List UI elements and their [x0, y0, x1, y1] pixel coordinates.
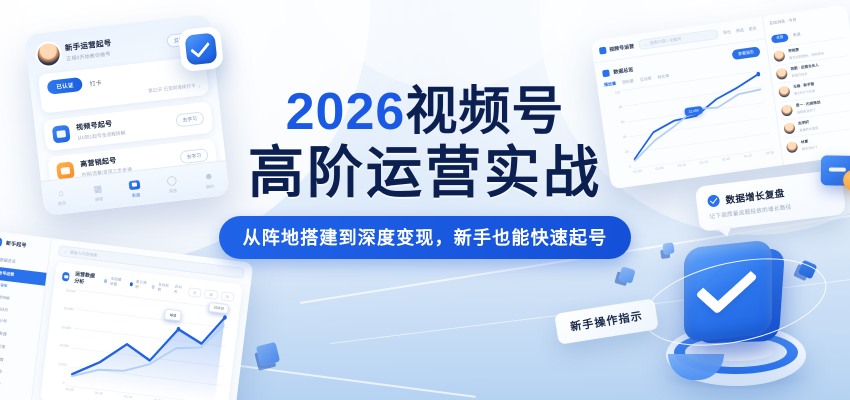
range-day-button[interactable]: 日 — [188, 287, 202, 298]
banner-canvas: 新手运营起号 正用0开始教你做号 立即查看 已认证 打卡 第32天 已签到连续打… — [0, 0, 850, 400]
panel-icon — [602, 69, 610, 77]
sidebar-item-label: 账号运营 — [0, 270, 14, 278]
toolbar-filter[interactable]: 筛选 — [736, 27, 745, 34]
dashboard-left-panel-title: 运营数据分析 — [74, 270, 100, 287]
dashboard-right-brand: 视频号运营 — [609, 42, 635, 52]
range-month-button[interactable]: 月 — [220, 291, 234, 302]
legend-label: 累计涨粉 — [135, 280, 148, 291]
sidebar-item-label: 选题日历 — [0, 306, 8, 313]
tab-followers[interactable]: 涨粉量 — [622, 78, 635, 86]
app-check-icon — [178, 26, 224, 72]
area-chart-left: 25,000 20,000 15,000 10,000 5,000 0 — [48, 288, 233, 400]
avatar — [776, 68, 788, 80]
sidebar-item-label: 爆款拆解 — [0, 295, 10, 302]
tab-engagement[interactable]: 互动率 — [639, 76, 652, 84]
legend-item-2: 互动总数 — [151, 282, 170, 294]
headline-line-1: 2026视频号 — [0, 86, 850, 140]
filter-label: 近30天 — [174, 285, 184, 296]
legend-item-0: 本周播放量 — [103, 276, 125, 288]
contacts-filter-all[interactable]: 全部 — [771, 33, 789, 43]
sidebar-item-label: 系统设置 — [0, 380, 1, 388]
sidebar-item-label: 团队协作 — [0, 368, 2, 376]
sidebar-item-label: 发布计划 — [0, 318, 7, 325]
hero-3d-check — [636, 236, 832, 400]
sidebar-item-label: 内容库 — [0, 283, 8, 289]
headline-line-2: 高阶运营实战 — [0, 144, 850, 203]
brand-mark-icon — [599, 46, 607, 54]
legend-label: 互动总数 — [157, 283, 170, 294]
toolbar-more[interactable]: 更多 — [748, 26, 757, 33]
subtitle-pill: 从阵地搭建到深度变现，新手也能快速起号 — [219, 216, 632, 259]
tab-conversion[interactable]: 转化率 — [657, 73, 670, 81]
search-placeholder: 搜索内容 / 关键词 — [650, 36, 682, 46]
sidebar-item-label: 商业变现 — [0, 342, 6, 350]
legend-label: 本周播放量 — [110, 277, 125, 289]
avatar — [36, 42, 60, 66]
contacts-filter-unread[interactable]: 未读 — [792, 31, 801, 37]
sidebar-item-label: 粉丝画像 — [0, 355, 4, 363]
legend-item-1: 累计涨粉 — [129, 279, 148, 291]
range-week-button[interactable]: 周 — [204, 289, 218, 300]
dashboard-right-panel-title: 数据总览 — [613, 66, 634, 76]
avatar — [773, 50, 785, 62]
dashboard-left-panel: 运营数据分析 本周播放量 累计涨粉 互动总数 近30天 — [40, 262, 243, 400]
toolbar-export[interactable]: 导出 — [723, 29, 732, 36]
search-icon: ⌕ — [645, 41, 648, 46]
filter-range[interactable]: 近30天 — [174, 285, 184, 296]
headline-line-1-rest: 视频号 — [405, 83, 564, 141]
panel-icon — [62, 271, 70, 281]
sidebar-item-label: 直播复盘 — [0, 330, 7, 338]
background-arc-center — [300, 0, 600, 90]
chart-marker-peak: 峰值 — [164, 308, 182, 321]
headline-block: 2026视频号 高阶运营实战 从阵地搭建到深度变现，新手也能快速起号 — [0, 86, 850, 259]
view-report-button[interactable]: 查看报告 — [732, 46, 761, 60]
contacts-title: 互动消息 · 今日 — [769, 17, 797, 27]
headline-year: 2026 — [286, 83, 406, 141]
